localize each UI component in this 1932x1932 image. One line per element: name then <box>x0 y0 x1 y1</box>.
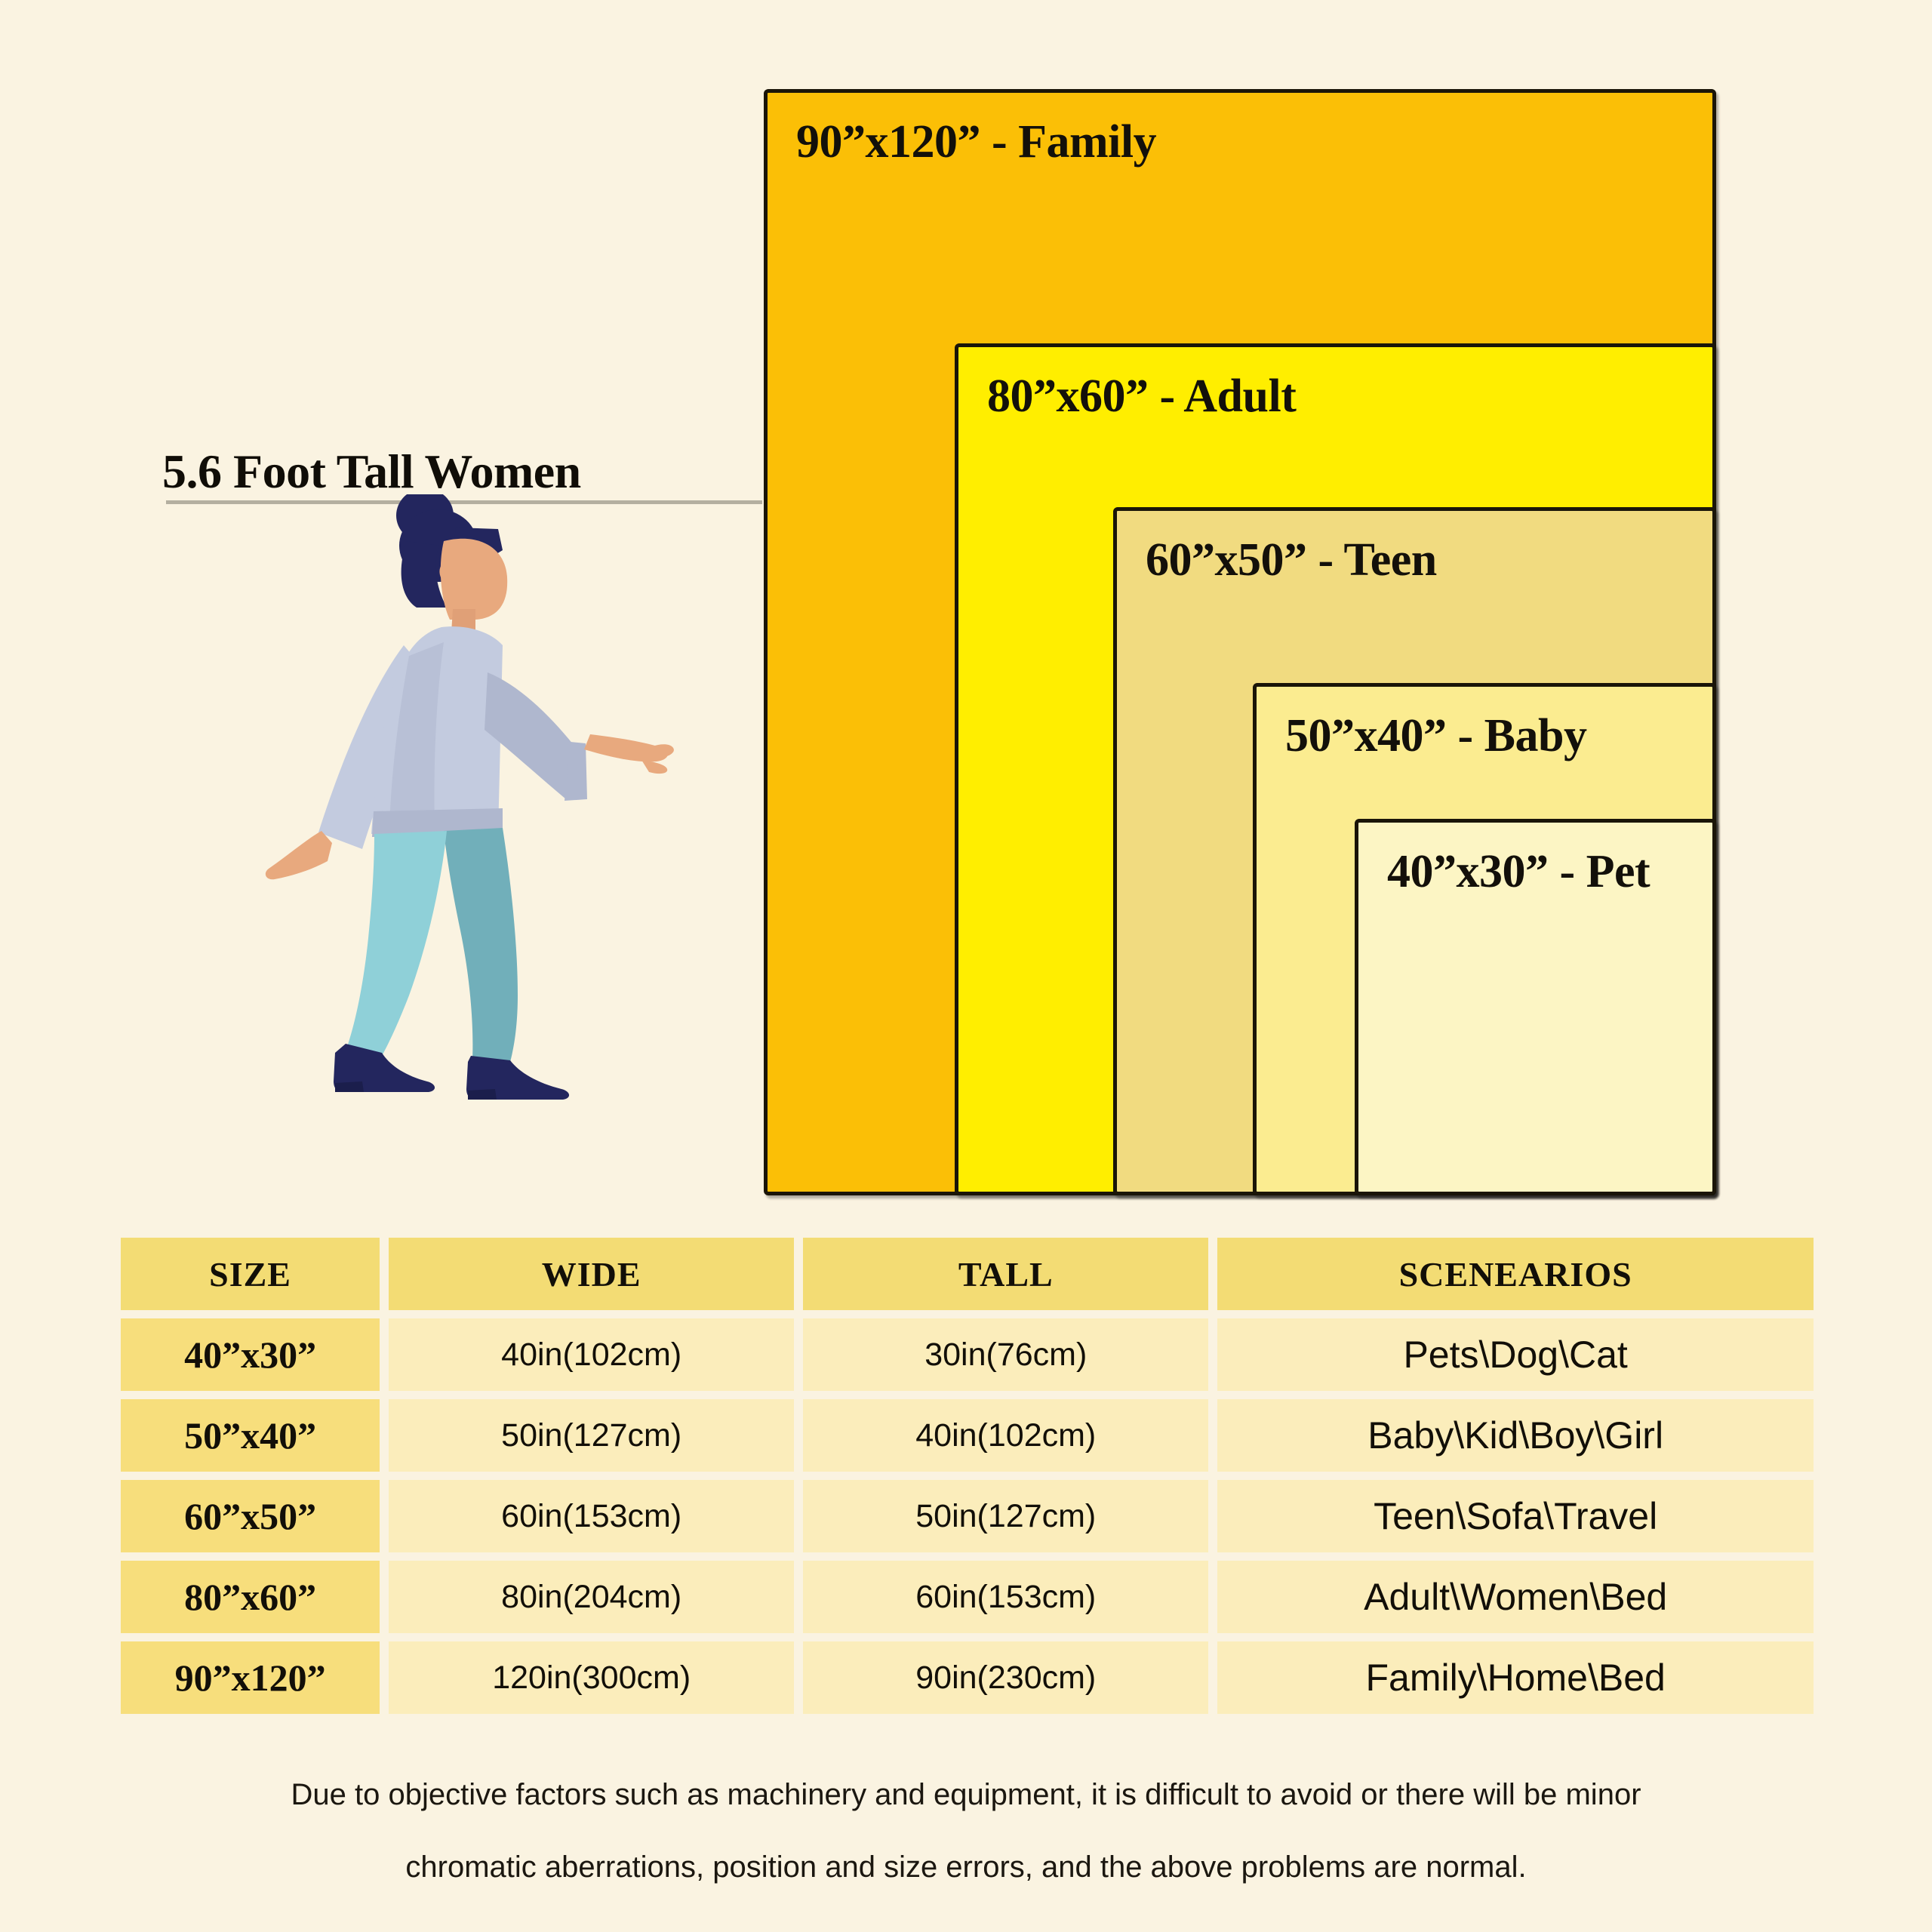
table-cell-size: 40”x30” <box>121 1318 380 1391</box>
table-header-tall: TALL <box>803 1238 1208 1310</box>
table-cell-scenarios: Adult\Women\Bed <box>1217 1561 1814 1633</box>
size-box-label-adult: 80”x60” - Adult <box>987 370 1296 423</box>
table-cell-tall: 60in(153cm) <box>803 1561 1208 1633</box>
table-cell-scenarios: Teen\Sofa\Travel <box>1217 1480 1814 1552</box>
table-cell-size: 90”x120” <box>121 1641 380 1714</box>
table-cell-wide: 60in(153cm) <box>389 1480 794 1552</box>
walking-woman-illustration <box>249 494 702 1211</box>
table-cell-size: 80”x60” <box>121 1561 380 1633</box>
table-header-size: SIZE <box>121 1238 380 1310</box>
table-cell-wide: 120in(300cm) <box>389 1641 794 1714</box>
table-cell-scenarios: Baby\Kid\Boy\Girl <box>1217 1399 1814 1472</box>
back-leg-shape <box>444 828 518 1062</box>
table-header-wide: WIDE <box>389 1238 794 1310</box>
size-box-label-pet: 40”x30” - Pet <box>1387 845 1650 899</box>
table-cell-scenarios: Pets\Dog\Cat <box>1217 1318 1814 1391</box>
table-header-scenarios: SCENEARIOS <box>1217 1238 1814 1310</box>
table-cell-scenarios: Family\Home\Bed <box>1217 1641 1814 1714</box>
size-specification-table: SIZE WIDE TALL SCENEARIOS 40”x30” 40in(1… <box>121 1238 1814 1722</box>
table-header-row: SIZE WIDE TALL SCENEARIOS <box>121 1238 1814 1310</box>
front-arm-shape <box>485 672 674 801</box>
table-row: 40”x30” 40in(102cm) 30in(76cm) Pets\Dog\… <box>121 1318 1814 1391</box>
size-box-label-family: 90”x120” - Family <box>796 115 1156 169</box>
disclaimer-line-2: chromatic aberrations, position and size… <box>0 1831 1932 1903</box>
size-box-pet: 40”x30” - Pet <box>1355 819 1716 1195</box>
table-cell-wide: 40in(102cm) <box>389 1318 794 1391</box>
table-cell-wide: 80in(204cm) <box>389 1561 794 1633</box>
height-reference-label: 5.6 Foot Tall Women <box>162 444 581 500</box>
table-cell-size: 50”x40” <box>121 1399 380 1472</box>
table-cell-tall: 50in(127cm) <box>803 1480 1208 1552</box>
table-cell-tall: 30in(76cm) <box>803 1318 1208 1391</box>
shoes-shape <box>334 1044 569 1100</box>
size-box-label-teen: 60”x50” - Teen <box>1146 534 1437 587</box>
table-cell-tall: 90in(230cm) <box>803 1641 1208 1714</box>
table-cell-wide: 50in(127cm) <box>389 1399 794 1472</box>
disclaimer-line-1: Due to objective factors such as machine… <box>0 1758 1932 1831</box>
table-row: 60”x50” 60in(153cm) 50in(127cm) Teen\Sof… <box>121 1480 1814 1552</box>
table-row: 80”x60” 80in(204cm) 60in(153cm) Adult\Wo… <box>121 1561 1814 1633</box>
disclaimer-block: Due to objective factors such as machine… <box>0 1758 1932 1903</box>
table-cell-size: 60”x50” <box>121 1480 380 1552</box>
table-row: 90”x120” 120in(300cm) 90in(230cm) Family… <box>121 1641 1814 1714</box>
table-cell-tall: 40in(102cm) <box>803 1399 1208 1472</box>
front-leg-shape <box>347 831 447 1056</box>
torso-top-shape <box>371 626 503 837</box>
table-row: 50”x40” 50in(127cm) 40in(102cm) Baby\Kid… <box>121 1399 1814 1472</box>
size-box-label-baby: 50”x40” - Baby <box>1285 709 1586 763</box>
height-reference-label-group: 5.6 Foot Tall Women <box>162 444 581 500</box>
